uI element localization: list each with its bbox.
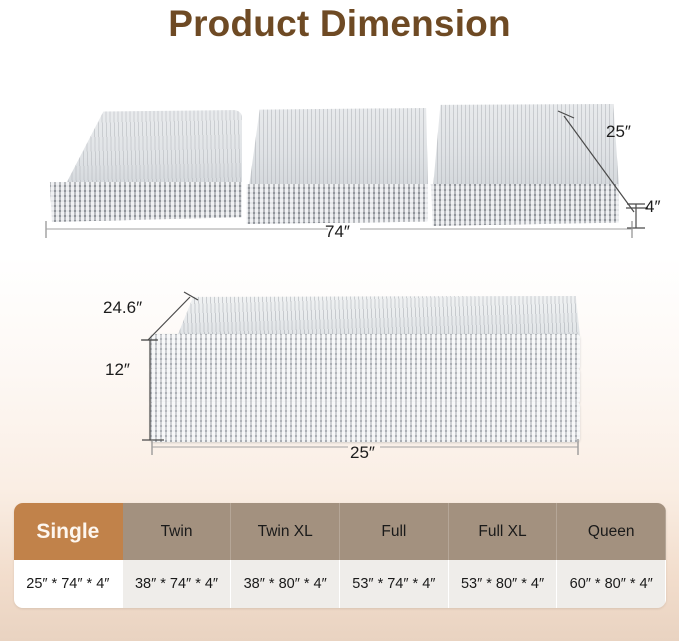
table-cell-full-xl-dimensions: 53″ * 80″ * 4″ <box>449 560 558 608</box>
table-cell-twin-xl-dimensions: 38″ * 80″ * 4″ <box>231 560 340 608</box>
folded-top-surface <box>164 296 580 338</box>
table-header-queen[interactable]: Queen <box>557 503 666 560</box>
table-header-single[interactable]: Single <box>14 503 123 560</box>
table-header-row: Single Twin Twin XL Full Full XL Queen <box>14 503 666 560</box>
table-cell-single-dimensions: 25″ * 74″ * 4″ <box>14 560 123 608</box>
page-title: Product Dimension <box>0 0 679 48</box>
panel-top-surface <box>243 108 428 190</box>
table-header-full[interactable]: Full <box>340 503 449 560</box>
folded-width-label: 25″ <box>350 443 375 463</box>
folded-mattress-illustration <box>150 296 580 446</box>
product-dimension-infographic: Product Dimension 25″ 4″ 74″ <box>0 0 679 641</box>
folded-layer-3 <box>150 402 580 442</box>
size-comparison-table: Single Twin Twin XL Full Full XL Queen 2… <box>14 503 666 608</box>
mattress-panel-middle <box>243 108 428 224</box>
folded-depth-label: 24.6″ <box>103 298 142 318</box>
folded-layer-2 <box>150 368 580 404</box>
unfolded-thickness-label: 4″ <box>645 197 660 217</box>
table-cell-full-dimensions: 53″ * 74″ * 4″ <box>340 560 449 608</box>
panel-top-surface <box>44 110 242 188</box>
table-cell-queen-dimensions: 60″ * 80″ * 4″ <box>557 560 666 608</box>
folded-layer-1 <box>150 334 580 370</box>
unfolded-length-label: 74″ <box>325 222 350 242</box>
unfolded-width-label: 25″ <box>606 122 631 142</box>
folded-height-label: 12″ <box>105 360 130 380</box>
table-header-full-xl[interactable]: Full XL <box>449 503 558 560</box>
table-header-twin-xl[interactable]: Twin XL <box>231 503 340 560</box>
table-header-twin[interactable]: Twin <box>123 503 232 560</box>
table-dimension-row: 25″ * 74″ * 4″ 38″ * 74″ * 4″ 38″ * 80″ … <box>14 560 666 608</box>
mattress-panel-left <box>44 110 242 222</box>
unfolded-mattress-illustration <box>44 104 619 222</box>
table-cell-twin-dimensions: 38″ * 74″ * 4″ <box>123 560 232 608</box>
folded-height-leader-line <box>138 336 164 448</box>
